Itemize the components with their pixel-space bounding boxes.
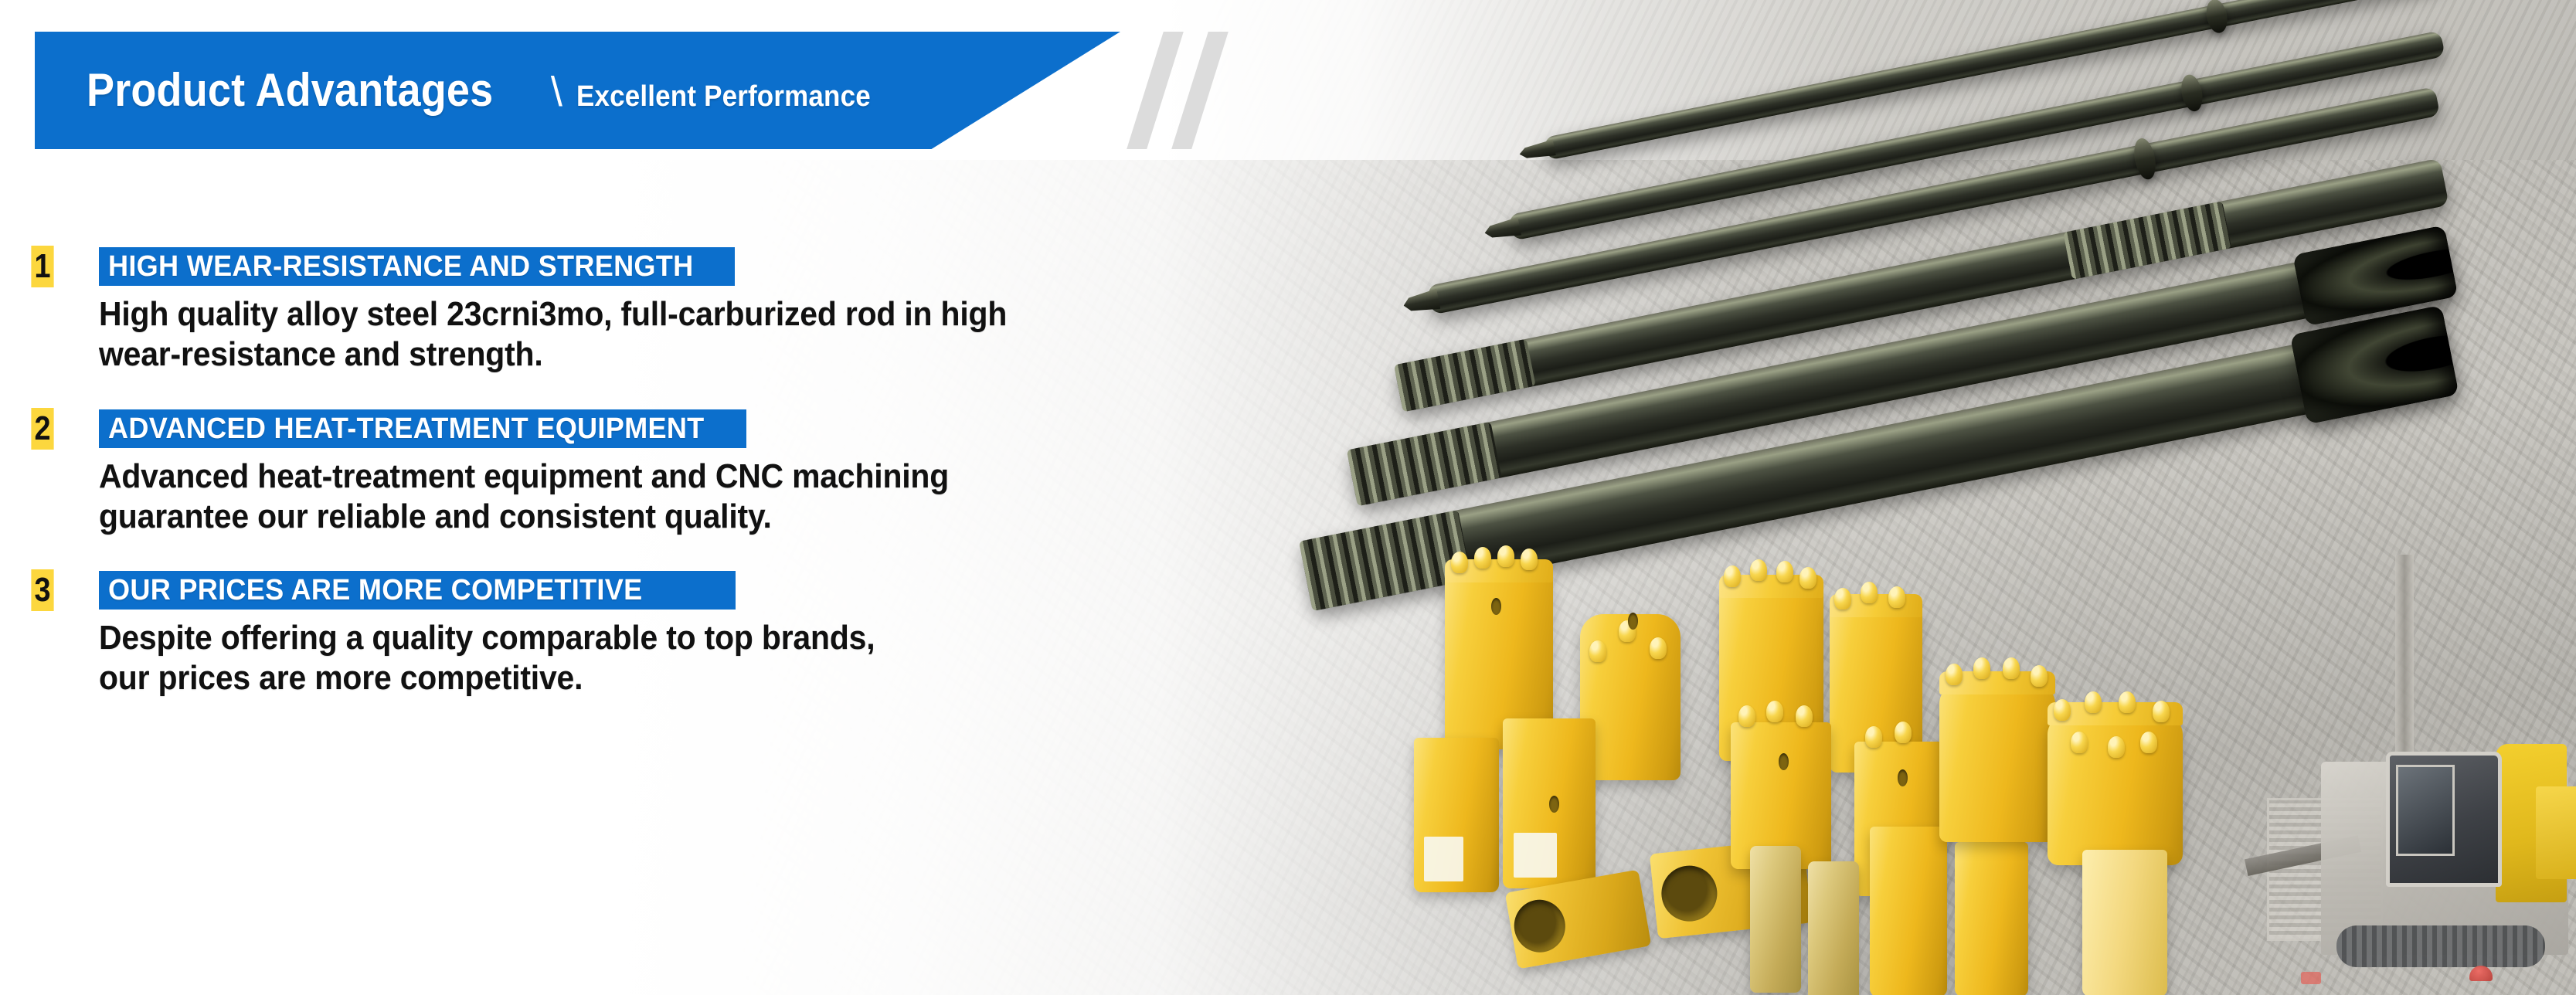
carbide-button <box>1521 548 1538 570</box>
advantage-body-line: Despite offering a quality comparable to… <box>99 618 1033 658</box>
carbide-button <box>2108 736 2125 758</box>
carbide-button <box>1738 705 1755 727</box>
header-stripe-outer <box>1171 32 1229 149</box>
carbide-button <box>1650 637 1667 659</box>
button-bit-3 <box>1414 738 1499 892</box>
carbide-button <box>1888 586 1905 608</box>
carbide-button <box>2085 691 2102 713</box>
carbide-button <box>1834 588 1851 610</box>
carbide-button <box>1946 664 1963 685</box>
advantage-body-3: Despite offering a quality comparable to… <box>99 618 1033 698</box>
flushing-hole <box>1491 598 1501 615</box>
advantage-body-line: High quality alloy steel 23crni3mo, full… <box>99 294 1033 334</box>
advantage-body-line: guarantee our reliable and consistent qu… <box>99 497 1033 537</box>
advantage-body-line: our prices are more competitive. <box>99 658 1033 698</box>
carbide-button <box>2003 657 2020 679</box>
advantage-header-2: 2 ADVANCED HEAT-TREATMENT EQUIPMENT <box>0 409 1159 448</box>
carbide-button <box>1796 705 1813 727</box>
coupling-bore <box>1659 863 1720 924</box>
advantage-body-line: wear-resistance and strength. <box>99 334 1033 375</box>
advantage-title-bar-1: HIGH WEAR-RESISTANCE AND STRENGTH <box>99 247 735 286</box>
advantage-title-1: HIGH WEAR-RESISTANCE AND STRENGTH <box>108 252 693 281</box>
button-bit-11 <box>1939 684 2055 842</box>
carbide-insert-1 <box>1750 846 1801 993</box>
advantage-header-3: 3 OUR PRICES ARE MORE COMPETITIVE <box>0 571 1159 610</box>
rod-thread-section <box>1394 339 1536 413</box>
rod-shank-end <box>1518 139 1556 162</box>
carbide-button <box>2071 732 2088 753</box>
carbide-button <box>1766 701 1783 722</box>
header-divider: \ <box>551 71 562 113</box>
carbide-button <box>1589 640 1606 662</box>
advantage-number-badge-3: 3 <box>31 569 53 611</box>
rod-collar <box>2178 73 2205 114</box>
button-bit-9 <box>1870 827 1947 995</box>
carbide-button <box>1474 547 1491 569</box>
advantage-title-2: ADVANCED HEAT-TREATMENT EQUIPMENT <box>108 414 705 443</box>
carbide-button <box>1799 567 1816 589</box>
advantage-item-2: 2 ADVANCED HEAT-TREATMENT EQUIPMENT Adva… <box>0 409 1159 537</box>
bit-spec-label <box>1514 833 1556 878</box>
advantage-body-1: High quality alloy steel 23crni3mo, full… <box>99 294 1033 375</box>
carbide-button <box>1861 582 1878 603</box>
advantage-number-badge-1: 1 <box>31 246 53 287</box>
rod-collar <box>2131 136 2159 182</box>
advantage-item-1: 1 HIGH WEAR-RESISTANCE AND STRENGTH High… <box>0 247 1159 375</box>
advantage-header-1: 1 HIGH WEAR-RESISTANCE AND STRENGTH <box>0 247 1159 286</box>
section-header: Product Advantages \ Excellent Performan… <box>0 0 1313 162</box>
carbide-button <box>1724 565 1741 587</box>
button-bit-10 <box>1955 842 2028 995</box>
carbide-button <box>1750 559 1767 581</box>
rod-shank-end <box>1402 289 1440 316</box>
advantage-body-line: Advanced heat-treatment equipment and CN… <box>99 457 1033 497</box>
carbide-button <box>1973 657 1990 679</box>
button-bit-13 <box>2048 715 2183 865</box>
rod-thread-section <box>2063 201 2231 280</box>
carbide-button <box>2119 691 2136 713</box>
flushing-hole <box>1898 769 1908 786</box>
header-ribbon: Product Advantages \ Excellent Performan… <box>35 32 1120 149</box>
carbide-insert-2 <box>1808 861 1859 995</box>
advantage-body-2: Advanced heat-treatment equipment and CN… <box>99 457 1033 537</box>
rod-shank-end <box>1483 217 1521 242</box>
carbide-button <box>2031 665 2048 687</box>
carbide-button <box>1451 552 1468 573</box>
button-bit-4 <box>1503 718 1596 888</box>
header-stripe-inner <box>1127 32 1184 149</box>
page-subtitle: Excellent Performance <box>576 82 871 111</box>
rod-thread-section <box>1347 422 1502 506</box>
carbide-button <box>2054 699 2071 721</box>
flushing-hole <box>1628 613 1638 630</box>
button-bit-14 <box>2082 850 2167 995</box>
page-title: Product Advantages <box>87 67 493 114</box>
carbide-button <box>1497 545 1514 567</box>
drill-bit-group <box>1368 541 2279 995</box>
carbide-button <box>1865 726 1882 748</box>
product-advantages-banner: Product Advantages \ Excellent Performan… <box>0 0 2576 995</box>
advantages-list: 1 HIGH WEAR-RESISTANCE AND STRENGTH High… <box>0 247 1159 698</box>
carbide-button <box>2140 732 2157 753</box>
flushing-hole <box>1549 796 1559 813</box>
carbide-button <box>2153 701 2170 722</box>
bit-spec-label <box>1424 837 1463 881</box>
advantage-title-3: OUR PRICES ARE MORE COMPETITIVE <box>108 576 642 605</box>
advantage-number-badge-2: 2 <box>31 408 53 450</box>
advantage-item-3: 3 OUR PRICES ARE MORE COMPETITIVE Despit… <box>0 571 1159 698</box>
advantage-title-bar-2: ADVANCED HEAT-TREATMENT EQUIPMENT <box>99 409 746 448</box>
flushing-hole <box>1779 753 1789 770</box>
carbide-button <box>1895 722 1912 743</box>
carbide-button <box>1776 561 1793 582</box>
advantage-title-bar-3: OUR PRICES ARE MORE COMPETITIVE <box>99 571 736 610</box>
